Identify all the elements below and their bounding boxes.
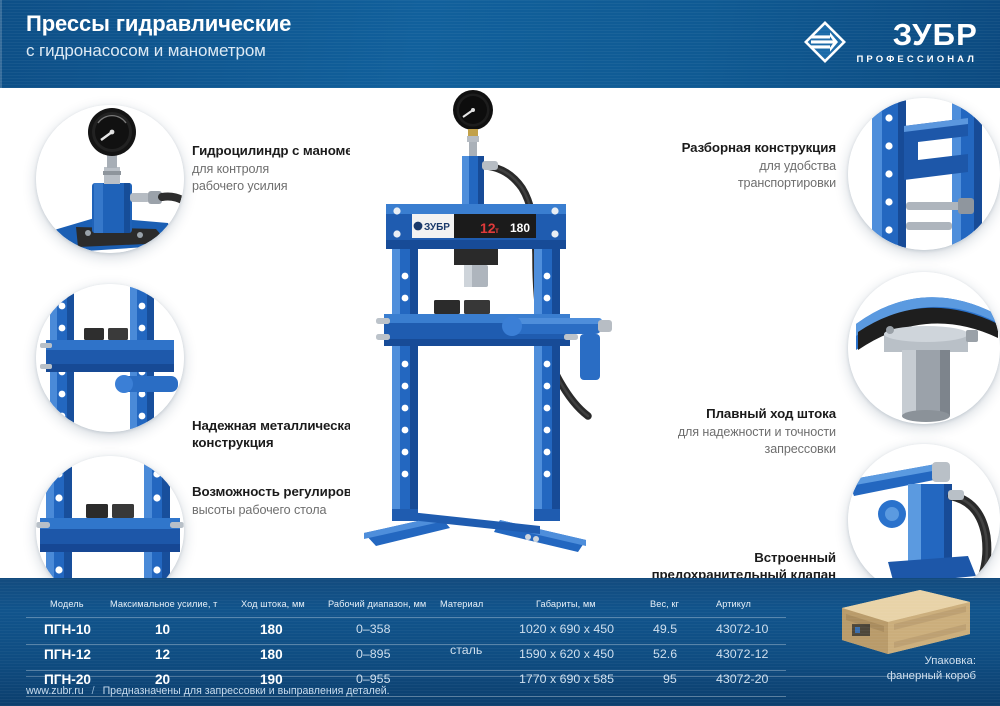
col-header-force: Максимальное усилие, т: [110, 592, 217, 616]
svg-text:12: 12: [480, 220, 496, 236]
col-header-model: Модель: [50, 592, 84, 616]
spec-panel: Модель Максимальное усилие, т Ход штока,…: [0, 578, 1000, 706]
col-header-stroke: Ход штока, мм: [241, 592, 305, 616]
cell-model-1: ПГН-12: [44, 642, 91, 667]
cell-sku-2: 43072-20: [716, 667, 768, 692]
page-title: Прессы гидравлические: [26, 11, 291, 37]
feature-right-1-desc-2: запрессовки: [628, 441, 836, 457]
footer-separator: /: [87, 685, 100, 697]
footer-bar: www.zubr.ru / Предназначены для запрессо…: [26, 682, 390, 700]
packaging-note: Упаковка: фанерный короб: [887, 654, 976, 683]
thumbnail-knockdown-frame: [848, 98, 1000, 250]
page-subtitle: с гидронасосом и манометром: [26, 41, 266, 61]
thumbnail-steel-frame: [36, 284, 184, 432]
cell-force-1: 12: [155, 642, 170, 667]
svg-text:ЗУБР: ЗУБР: [424, 222, 450, 233]
col-header-weight: Вес, кг: [650, 592, 679, 616]
col-header-sku: Артикул: [716, 592, 751, 616]
spec-table-header-row: Модель Максимальное усилие, т Ход штока,…: [26, 592, 786, 616]
thumbnail-pressure-gauge: [36, 105, 184, 253]
product-image-hydraulic-press: ЗУБР 12 т 180: [350, 88, 670, 573]
product-sheet: Прессы гидравлические с гидронасосом и м…: [0, 0, 1000, 706]
cell-stroke-1: 180: [260, 642, 283, 667]
svg-text:180: 180: [510, 221, 530, 235]
cell-sku-0: 43072-10: [716, 617, 768, 642]
packaging-crate-image: [824, 584, 974, 656]
footer-note: Предназначены для запрессовки и выправле…: [103, 685, 390, 697]
cell-stroke-0: 180: [260, 617, 283, 642]
header-left-divider: [0, 0, 2, 88]
packaging-label: Упаковка:: [887, 654, 976, 669]
svg-text:т: т: [495, 226, 499, 235]
col-header-range: Рабочий диапазон, мм: [328, 592, 426, 616]
table-row: ПГН-12 12 180 0–895 1590 x 620 x 450 52.…: [26, 642, 786, 667]
col-header-material: Материал: [440, 592, 483, 616]
cell-dims-0: 1020 x 690 x 450: [519, 617, 614, 642]
cell-range-0: 0–358: [356, 617, 390, 642]
feature-right-0: Разборная конструкция для удобства транс…: [650, 140, 836, 191]
cell-weight-1: 52.6: [653, 642, 677, 667]
cell-model-0: ПГН-10: [44, 617, 91, 642]
footer-website-link[interactable]: www.zubr.ru: [26, 685, 84, 697]
thumbnail-piston-rod: [848, 272, 1000, 424]
cell-weight-0: 49.5: [653, 617, 677, 642]
cell-force-0: 10: [155, 617, 170, 642]
feature-right-0-desc-1: для удобства: [650, 158, 836, 174]
feature-right-1-title: Плавный ход штока: [628, 406, 836, 423]
brand-name: ЗУБР: [893, 19, 978, 51]
footer-divider: [26, 676, 974, 677]
feature-right-0-title: Разборная конструкция: [650, 140, 836, 157]
brand-logo: ЗУБР ПРОФЕССИОНАЛ: [803, 19, 978, 71]
cell-sku-1: 43072-12: [716, 642, 768, 667]
thumbnail-safety-valve: [848, 444, 1000, 596]
table-row: ПГН-10 10 180 0–358 1020 x 690 x 450 49.…: [26, 617, 786, 642]
feature-right-0-desc-2: транспортировки: [650, 175, 836, 191]
brand-logo-text: ЗУБР ПРОФЕССИОНАЛ: [856, 19, 978, 65]
spec-table: Модель Максимальное усилие, т Ход штока,…: [26, 592, 786, 692]
zubr-arrow-icon: [803, 20, 847, 64]
feature-stage: Гидроцилиндр с манометром для контроля р…: [0, 88, 1000, 578]
col-header-dims: Габариты, мм: [536, 592, 596, 616]
feature-right-2-title-1: Встроенный: [600, 550, 836, 567]
feature-right-1: Плавный ход штока для надежности и точно…: [628, 406, 836, 457]
feature-right-1-desc-1: для надежности и точности: [628, 424, 836, 440]
cell-weight-2: 95: [663, 667, 677, 692]
cell-range-1: 0–895: [356, 642, 390, 667]
cell-dims-1: 1590 x 620 x 450: [519, 642, 614, 667]
page-header: Прессы гидравлические с гидронасосом и м…: [0, 0, 1000, 88]
brand-tagline: ПРОФЕССИОНАЛ: [856, 54, 977, 65]
cell-dims-2: 1770 x 690 x 585: [519, 667, 614, 692]
